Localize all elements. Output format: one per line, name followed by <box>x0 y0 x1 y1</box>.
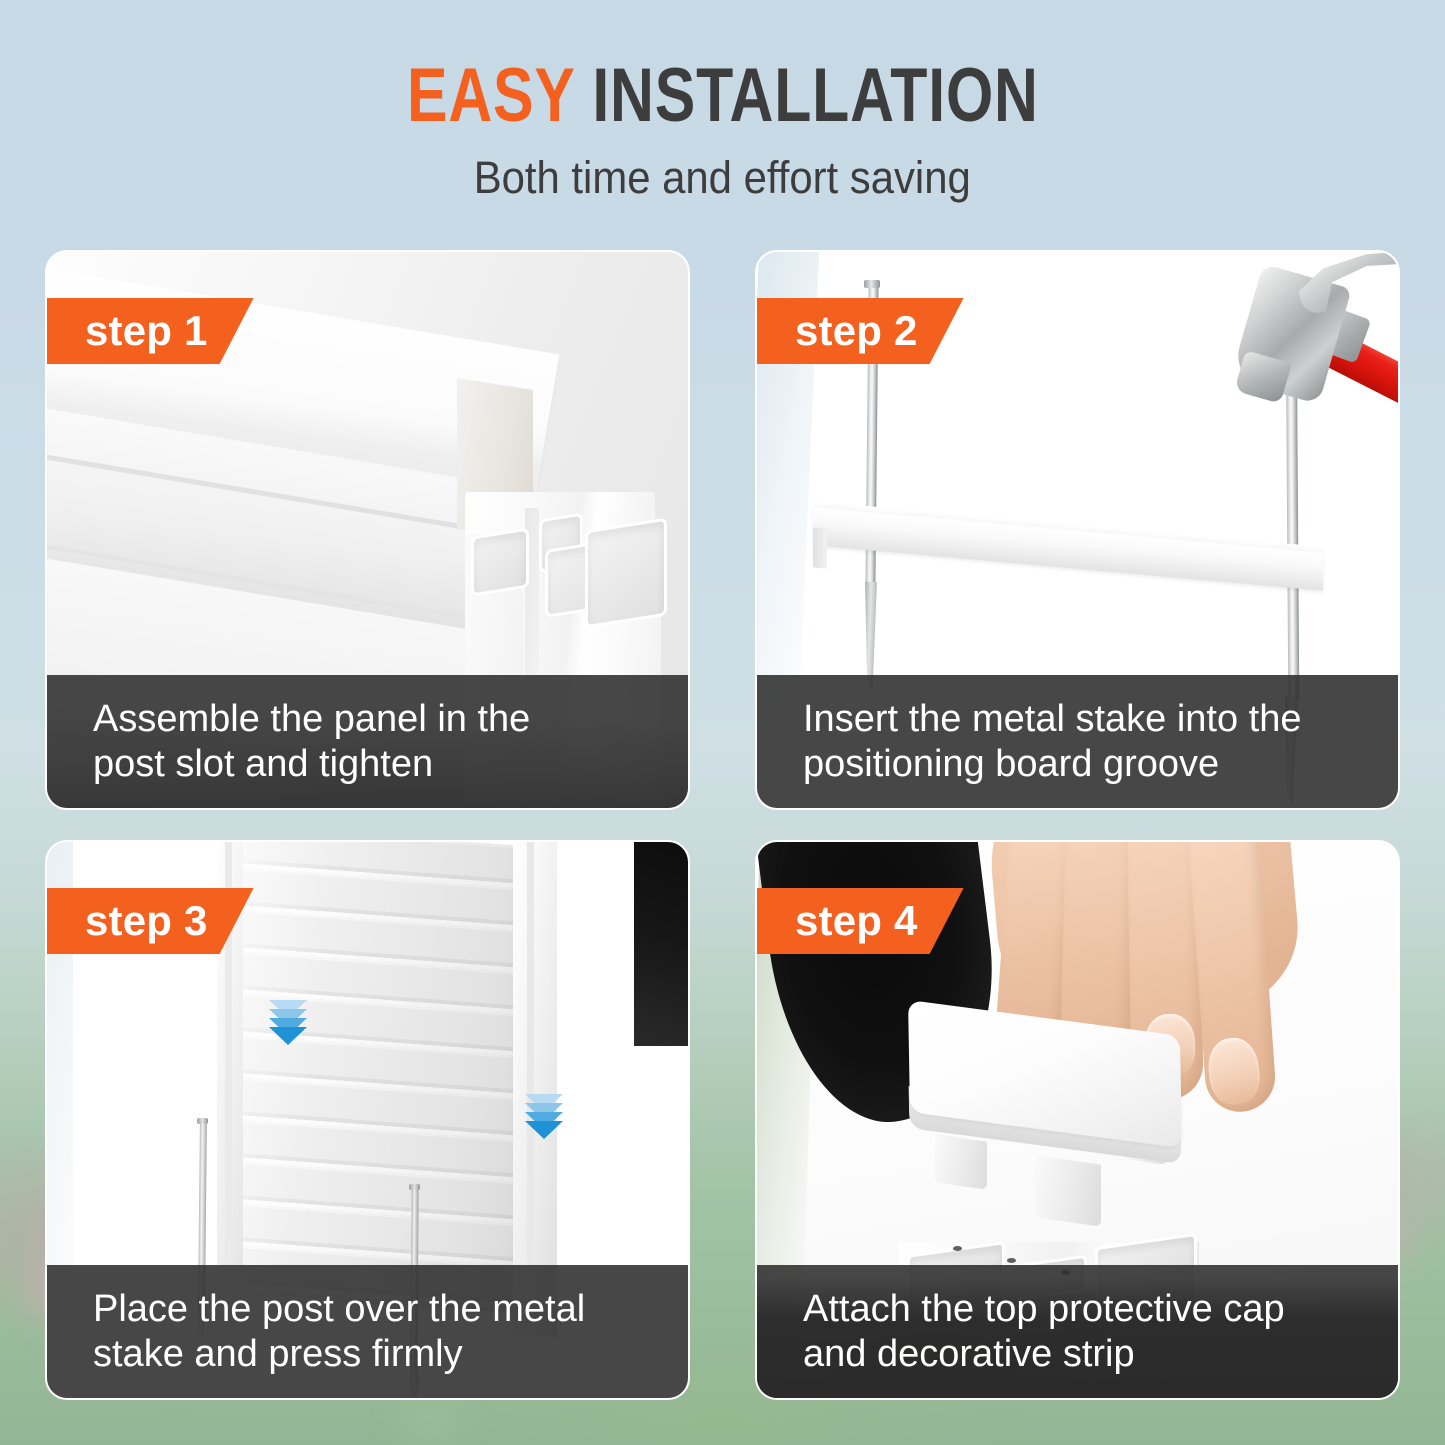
step-caption-3: Place the post over the metalstake and p… <box>47 1265 688 1398</box>
step-card-2[interactable]: step 2 Insert the metal stake into thepo… <box>755 250 1400 810</box>
step-2-caption-line2: positioning board groove <box>803 743 1219 785</box>
title-highlight: EASY <box>407 53 575 138</box>
step-4-caption-line2: and decorative strip <box>803 1333 1135 1375</box>
step-badge-4-label: step 4 <box>795 900 918 942</box>
step-card-1[interactable]: step 1 Assemble the panel in thepost slo… <box>45 250 690 810</box>
step-caption-2: Insert the metal stake into thepositioni… <box>757 675 1398 808</box>
step-badge-2-label: step 2 <box>795 310 918 352</box>
down-arrow-icon-right <box>525 1094 563 1130</box>
step-badge-3: step 3 <box>45 888 254 954</box>
page-title: EASY INSTALLATION <box>407 58 1039 134</box>
step-badge-3-label: step 3 <box>85 900 208 942</box>
step-badge-4: step 4 <box>755 888 964 954</box>
step-badge-1-label: step 1 <box>85 310 208 352</box>
step-badge-2: step 2 <box>755 298 964 364</box>
step-2-caption-line1: Insert the metal stake into the <box>803 698 1302 740</box>
header: EASY INSTALLATION Both time and effort s… <box>0 0 1445 232</box>
steps-grid: step 1 Assemble the panel in thepost slo… <box>45 250 1400 1400</box>
page-subtitle: Both time and effort saving <box>474 155 971 200</box>
step-3-caption-line1: Place the post over the metal <box>93 1288 585 1330</box>
step-1-caption-line2: post slot and tighten <box>93 743 433 785</box>
step-badge-1: step 1 <box>45 298 254 364</box>
step-4-caption-line1: Attach the top protective cap <box>803 1288 1285 1330</box>
step-card-3[interactable]: step 3 Place the post over the metalstak… <box>45 840 690 1400</box>
down-arrow-icon-left <box>269 1000 307 1036</box>
step-3-caption-line2: stake and press firmly <box>93 1333 463 1375</box>
step-1-caption-line1: Assemble the panel in the <box>93 698 530 740</box>
step-caption-1: Assemble the panel in thepost slot and t… <box>47 675 688 808</box>
step-caption-4: Attach the top protective capand decorat… <box>757 1265 1398 1398</box>
title-rest: INSTALLATION <box>592 53 1038 138</box>
step-card-4[interactable]: step 4 Attach the top protective capand … <box>755 840 1400 1400</box>
